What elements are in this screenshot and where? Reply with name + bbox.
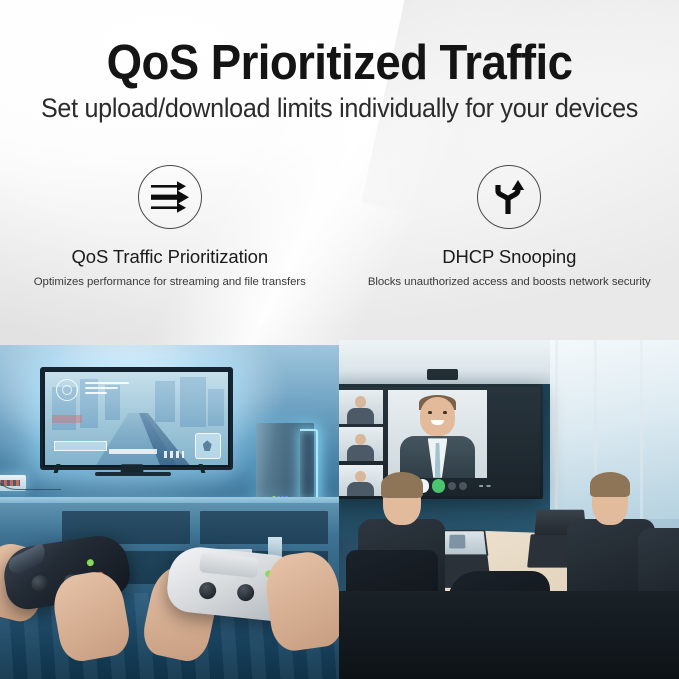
feature-dhcp-snooping: DHCP Snooping Blocks unauthorized access… xyxy=(340,165,679,300)
more-options-icon[interactable] xyxy=(479,485,494,487)
game-screen-content xyxy=(45,372,228,465)
console-shelf xyxy=(200,511,328,544)
participant-thumbnail xyxy=(339,390,383,424)
feature-title: DHCP Snooping xyxy=(442,246,576,268)
active-speaker-video xyxy=(388,390,486,477)
feature-qos-traffic-prioritization: QoS Traffic Prioritization Optimizes per… xyxy=(0,165,340,300)
speaker-head xyxy=(420,397,455,435)
controller-stick xyxy=(198,581,217,600)
game-hud-panel xyxy=(54,441,107,451)
participant-thumbnail xyxy=(339,427,383,461)
gaming-room-background xyxy=(0,345,339,679)
three-arrows-icon xyxy=(138,165,202,229)
participant-head xyxy=(355,434,366,446)
game-building xyxy=(105,385,120,420)
participant-body xyxy=(347,408,374,424)
page-subtitle: Set upload/download limits individually … xyxy=(24,92,655,125)
game-hud-bar xyxy=(85,387,118,389)
tv-stand xyxy=(95,464,171,475)
hair xyxy=(381,472,423,499)
game-hud-alert xyxy=(52,415,81,423)
game-hud-bar xyxy=(109,449,157,454)
feature-description: Optimizes performance for streaming and … xyxy=(34,275,306,290)
game-building xyxy=(208,389,224,426)
gaming-living-room-photo xyxy=(0,345,339,679)
qos-feature-banner: QoS Prioritized Traffic Set upload/downl… xyxy=(0,0,679,679)
pc-led-strip xyxy=(300,429,318,503)
controller-stick xyxy=(236,583,255,602)
speaker-eye xyxy=(428,411,432,414)
game-hud-bar xyxy=(85,392,107,394)
participant-body xyxy=(347,445,374,461)
tv-screen-racing-game xyxy=(40,367,233,470)
photo-strip xyxy=(0,345,679,679)
game-building xyxy=(155,381,175,422)
feature-title: QoS Traffic Prioritization xyxy=(71,246,268,268)
header-panel: QoS Prioritized Traffic Set upload/downl… xyxy=(0,0,679,345)
camera-button[interactable] xyxy=(459,482,467,491)
network-fork-arrow-icon xyxy=(477,165,541,229)
feature-description: Blocks unauthorized access and boosts ne… xyxy=(368,275,651,290)
controller-stick xyxy=(30,574,49,593)
ceiling-projector xyxy=(427,369,458,381)
feature-list: QoS Traffic Prioritization Optimizes per… xyxy=(0,165,679,300)
game-speed-ticks xyxy=(164,451,184,458)
game-hud-bar xyxy=(85,382,129,384)
participant-head xyxy=(355,396,366,408)
game-building xyxy=(180,377,206,427)
cable xyxy=(0,463,61,490)
conference-room-background xyxy=(339,340,679,679)
game-shield-icon xyxy=(195,433,221,459)
page-title: QoS Prioritized Traffic xyxy=(24,36,655,90)
controller-button xyxy=(86,559,94,567)
floor-shadow xyxy=(339,591,679,679)
hair xyxy=(590,472,630,497)
video-conference-room-photo xyxy=(339,340,679,679)
